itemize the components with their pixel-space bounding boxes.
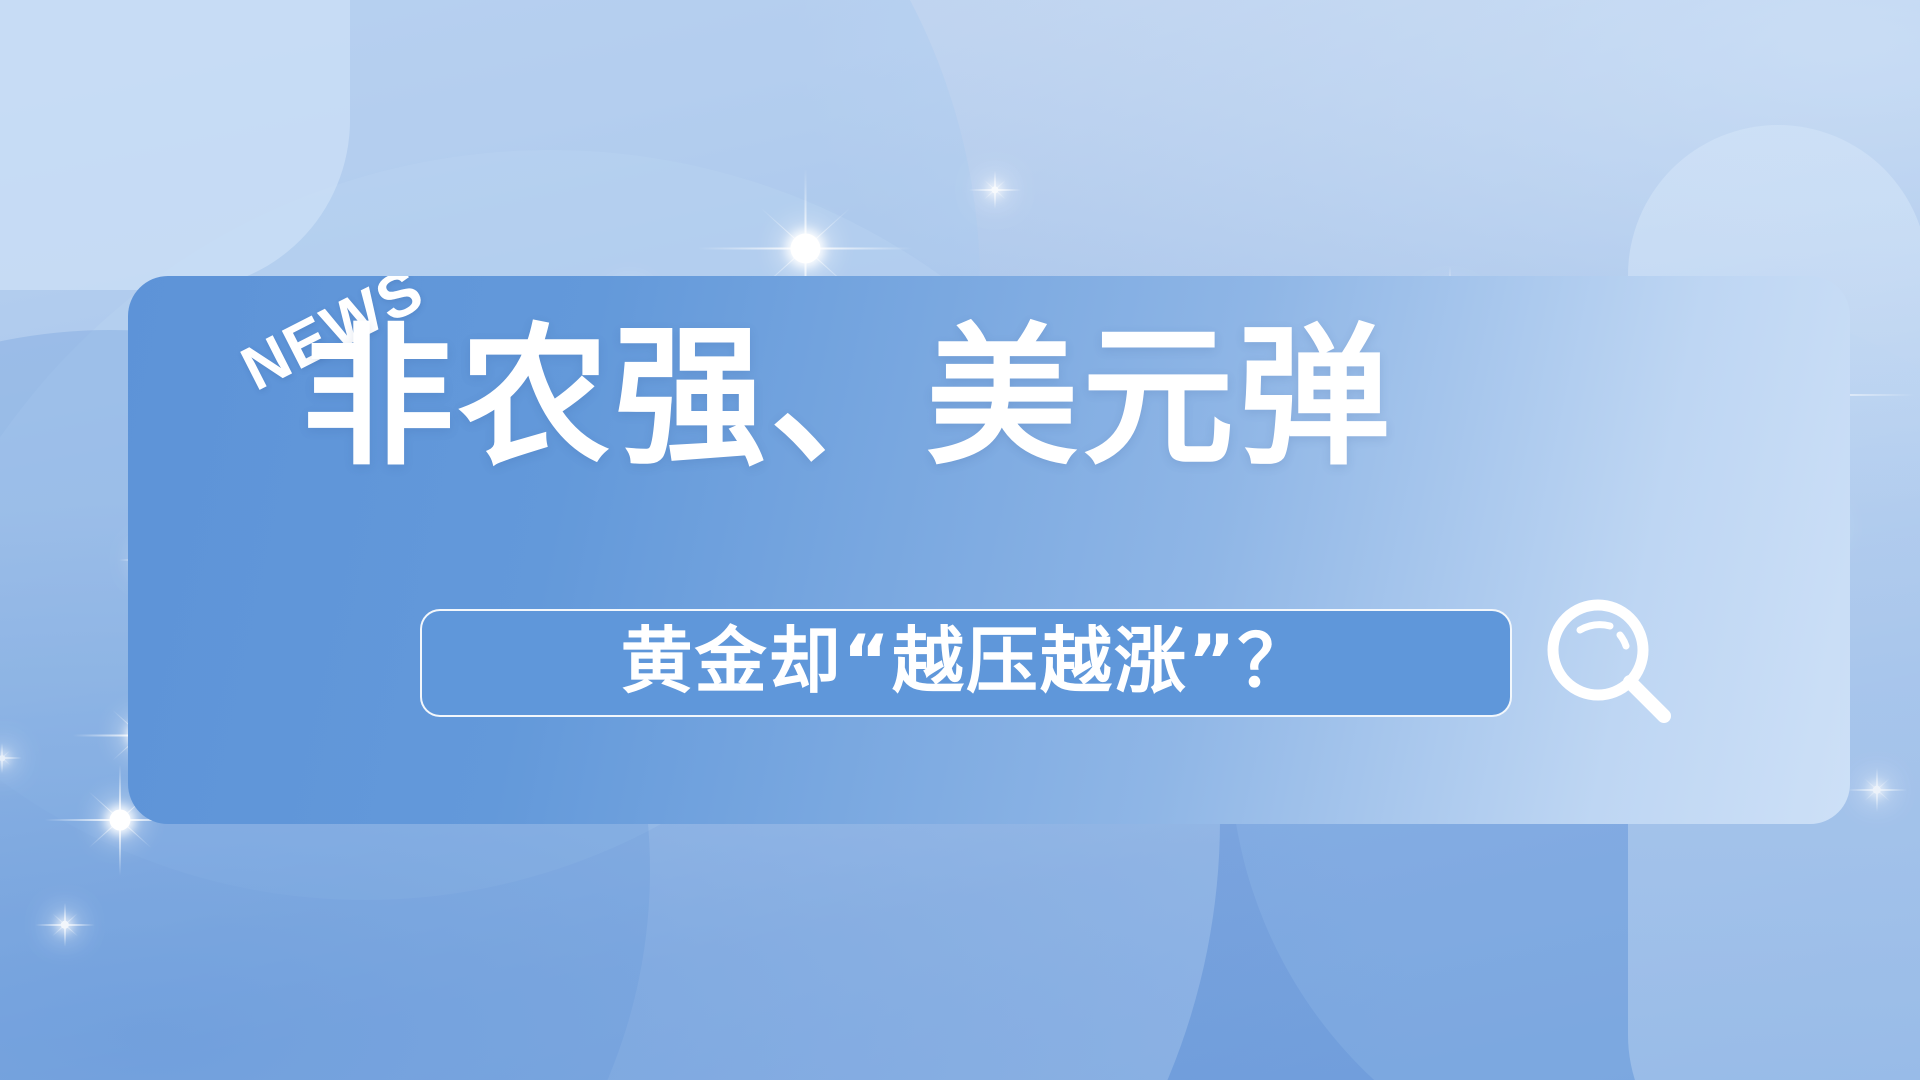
poster-canvas: NEWS 非农强、美元弹 黄金却“越压越涨”？ <box>0 0 1920 1080</box>
headline-text: 非农强、美元弹 <box>302 320 1394 475</box>
news-card-surface: NEWS 非农强、美元弹 <box>128 276 1850 824</box>
magnifier-icon <box>1542 594 1680 732</box>
subtitle-box: 黄金却“越压越涨”？ <box>420 609 1512 717</box>
subtitle-text: 黄金却“越压越涨”？ <box>621 625 1312 697</box>
subtitle-row: 黄金却“越压越涨”？ <box>420 594 1680 732</box>
news-card: NEWS 非农强、美元弹 黄金却“越压越涨”？ <box>128 276 1850 824</box>
